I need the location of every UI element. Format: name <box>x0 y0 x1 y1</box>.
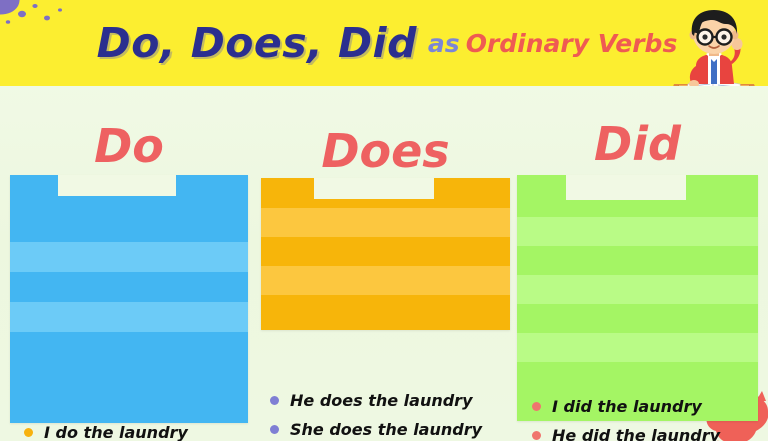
list-item-label: He did the laundry <box>552 426 720 441</box>
list-did: I did the laundry He did the laundry She… <box>517 392 758 441</box>
row-stripe <box>261 266 510 295</box>
row-stripe <box>517 333 758 362</box>
bullet-icon <box>270 425 279 434</box>
row-stripe <box>517 275 758 304</box>
card-does: He does the laundry She does the laundry… <box>261 178 510 330</box>
boy-studying-icon <box>666 4 762 86</box>
row-stripe <box>10 242 248 272</box>
bullet-icon <box>270 396 279 405</box>
card-did-body <box>517 175 758 421</box>
card-notch <box>566 175 686 200</box>
list-item-label: I do the laundry <box>44 423 188 441</box>
list-item[interactable]: He does the laundry <box>261 386 510 415</box>
list-item-label: He does the laundry <box>290 391 473 410</box>
list-item[interactable]: He did the laundry <box>517 421 758 441</box>
row-stripe <box>10 302 248 332</box>
card-did: I did the laundry He did the laundry She… <box>517 175 758 421</box>
column-heading-did: Did <box>517 117 758 171</box>
title-main-text: Do, Does, Did <box>97 19 417 67</box>
header-banner: Do, Does, Did as Ordinary Verbs <box>0 0 768 86</box>
row-stripe <box>517 217 758 246</box>
card-notch <box>58 175 176 196</box>
list-item[interactable]: I did the laundry <box>517 392 758 421</box>
list-item-label: I did the laundry <box>552 397 702 416</box>
bullet-icon <box>24 428 33 437</box>
card-do-body <box>10 175 248 423</box>
card-does-body <box>261 178 510 330</box>
title-as-text: as <box>428 29 460 58</box>
list-does: He does the laundry She does the laundry… <box>261 386 510 441</box>
list-item[interactable]: She does the laundry <box>261 415 510 441</box>
banner-title: Do, Does, Did as Ordinary Verbs <box>0 0 768 86</box>
row-stripe <box>261 208 510 237</box>
list-do: I do the laundry We do the laundry You d… <box>10 417 248 441</box>
bullet-icon <box>532 431 541 440</box>
column-heading-do: Do <box>10 119 248 173</box>
infographic-page: Do, Does, Did as Ordinary Verbs <box>0 0 768 441</box>
list-item-label: She does the laundry <box>290 420 482 439</box>
list-item[interactable]: I do the laundry <box>10 417 248 441</box>
bullet-icon <box>532 402 541 411</box>
card-do: I do the laundry We do the laundry You d… <box>10 175 248 423</box>
title-subject-text: Ordinary Verbs <box>466 29 678 58</box>
card-notch <box>314 178 434 199</box>
column-heading-does: Does <box>261 124 510 178</box>
